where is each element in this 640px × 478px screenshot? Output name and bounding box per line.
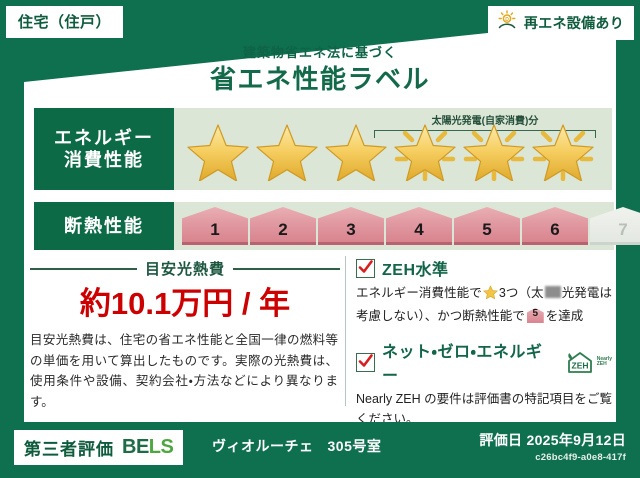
zeh-standard-heading: ZEH水準 <box>356 256 612 280</box>
chip-number: 7 <box>590 207 640 245</box>
column-divider <box>345 256 346 406</box>
star-icon <box>253 117 321 181</box>
renewable-equipment-badge: D 再エネ設備あり <box>488 6 634 40</box>
star-icon <box>184 117 252 181</box>
net-zero-title: ネット・ゼロ・エネルギー <box>382 338 554 386</box>
property-name: ヴィオルーチェ <box>212 436 314 456</box>
energy-row-body: 太陽光発電(自家消費)分 <box>174 108 612 190</box>
zeh-logo-subtext: Nearly ZEH <box>597 357 612 368</box>
solar-sun-icon: D <box>496 10 518 35</box>
evaluation-id: c26bc4f9-a0e8-417f <box>479 452 626 463</box>
chip-number: 2 <box>250 207 316 245</box>
net-zero-block: ネット・ゼロ・エネルギー ZEH Nearly ZEH Nearly ZEH の… <box>356 338 612 429</box>
energy-star-rating <box>184 117 597 181</box>
cost-heading-label: 目安光熱費 <box>145 258 225 279</box>
zeh-body-part3: を達成 <box>546 309 584 323</box>
property-info: ヴィオルーチェ 305号室 <box>212 436 381 456</box>
inline-badge-number: 5 <box>527 308 544 323</box>
zeh-standard-title: ZEH水準 <box>382 256 449 280</box>
estimated-utility-cost-value: 約10.1万円 / 年 <box>30 278 340 323</box>
heading-rule-left <box>30 268 137 270</box>
energy-caption-line2: 消費性能 <box>64 149 144 172</box>
insulation-row-body: 1 2 3 4 5 6 7 <box>174 202 614 250</box>
zeh-standard-body: エネルギー消費性能で3つ（太光発電は考慮しない）、かつ断熱性能で5を達成 <box>356 283 612 326</box>
renewable-badge-label: 再エネ設備あり <box>524 13 624 33</box>
zeh-body-star-count: 3つ（太 <box>499 286 544 300</box>
zeh-check-icon <box>356 259 375 278</box>
insulation-level-chip: 3 <box>318 207 384 245</box>
estimated-utility-cost-heading: 目安光熱費 <box>30 258 340 279</box>
bels-jp-label: 第三者評価 <box>24 435 114 460</box>
criteria-column: ZEH水準 エネルギー消費性能で3つ（太光発電は考慮しない）、かつ断熱性能で5を… <box>356 256 612 429</box>
evaluation-date: 評価日 2025年9月12日 <box>479 430 626 450</box>
chip-number: 1 <box>182 207 248 245</box>
svg-text:ZEH: ZEH <box>571 361 588 371</box>
evaluation-info: 評価日 2025年9月12日 c26bc4f9-a0e8-417f <box>479 430 626 463</box>
chip-number: 6 <box>522 207 588 245</box>
redacted-text-block <box>545 286 561 298</box>
insulation-performance-row: 断熱性能 1 2 3 4 5 6 7 <box>34 202 614 250</box>
energy-row-caption: エネルギー 消費性能 <box>34 108 174 190</box>
bels-certification-mark: 第三者評価 BELS <box>14 430 183 465</box>
insulation-level-chip: 5 <box>454 207 520 245</box>
chip-number: 4 <box>386 207 452 245</box>
bels-en-label: BELS <box>122 436 173 459</box>
star-solar-icon <box>391 117 459 181</box>
inline-star-icon <box>483 285 498 306</box>
star-icon <box>322 117 390 181</box>
zeh-house-logo: ZEH Nearly ZEH <box>565 350 612 374</box>
zeh-body-part1: エネルギー消費性能で <box>356 286 482 300</box>
room-number: 305号室 <box>328 436 382 456</box>
energy-performance-label: 住宅（住戸） D 再エネ設備あり 建築物省エネ法に基づく 省エネ性能ラベル <box>0 0 640 478</box>
insulation-row-caption: 断熱性能 <box>34 202 174 250</box>
zeh-logo-sub-line2: ZEH <box>597 361 607 367</box>
energy-caption-line1: エネルギー <box>54 127 154 150</box>
insulation-level-chip: 2 <box>250 207 316 245</box>
inline-insulation-badge: 5 <box>527 308 544 323</box>
chip-number: 3 <box>318 207 384 245</box>
heading-rule-right <box>233 268 340 270</box>
insulation-caption-label: 断熱性能 <box>64 215 144 238</box>
bels-en-part1: BE <box>122 436 149 458</box>
svg-text:D: D <box>505 17 509 23</box>
net-zero-heading: ネット・ゼロ・エネルギー ZEH Nearly ZEH <box>356 338 612 386</box>
insulation-level-chips: 1 2 3 4 5 6 7 <box>182 207 640 245</box>
insulation-level-chip: 7 <box>590 207 640 245</box>
insulation-level-chip: 1 <box>182 207 248 245</box>
star-solar-icon <box>529 117 597 181</box>
star-solar-icon <box>460 117 528 181</box>
insulation-level-chip: 6 <box>522 207 588 245</box>
energy-consumption-row: エネルギー 消費性能 太陽光発電(自家消費)分 <box>34 108 612 190</box>
estimated-utility-cost-note: 目安光熱費は、住宅の省エネ性能と全国一律の燃料等の単価を用いて算出したものです。… <box>30 330 338 413</box>
label-title: 省エネ性能ラベル <box>0 59 640 96</box>
bels-en-part2: LS <box>149 436 174 458</box>
net-zero-check-icon <box>356 353 375 372</box>
insulation-level-chip: 4 <box>386 207 452 245</box>
chip-number: 5 <box>454 207 520 245</box>
category-tag: 住宅（住戸） <box>6 6 123 38</box>
